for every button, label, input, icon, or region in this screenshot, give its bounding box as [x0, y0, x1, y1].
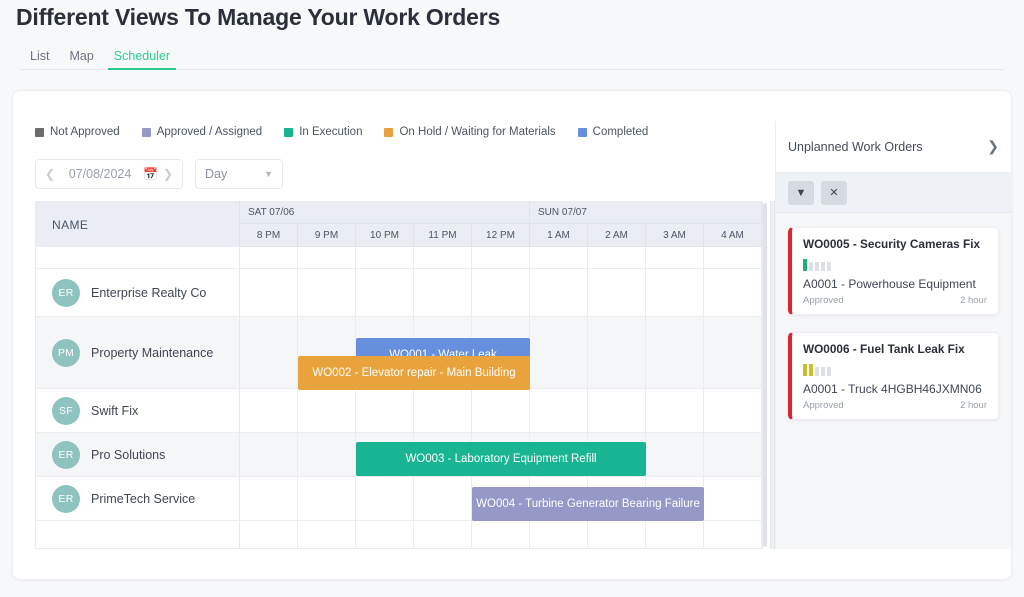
priority-bar — [815, 367, 819, 376]
time-slot-cell[interactable] — [298, 247, 356, 268]
scheduler-grid: NAME SAT 07/06SUN 07/07 8 PM9 PM10 PM11 … — [35, 201, 763, 549]
resource-name-cell[interactable] — [36, 247, 240, 268]
time-slot-cell[interactable] — [646, 433, 704, 476]
row-time-cells — [240, 389, 762, 432]
time-slot-cell[interactable] — [530, 521, 588, 548]
time-slot-cell[interactable] — [646, 247, 704, 268]
grid-body: EREnterprise Realty CoPMProperty Mainten… — [36, 247, 762, 549]
unplanned-panel: Unplanned Work Orders ❯ ▼ ✕ WO0005 - Sec… — [775, 121, 1011, 549]
legend-label: In Execution — [299, 126, 362, 138]
time-slot-cell[interactable] — [356, 477, 414, 520]
legend-swatch — [35, 128, 44, 137]
hour-header-cell: 10 PM — [356, 224, 414, 247]
time-slot-cell[interactable] — [588, 317, 646, 388]
grid-scrollbar[interactable] — [763, 203, 767, 547]
time-slot-cell[interactable] — [588, 247, 646, 268]
time-slot-cell[interactable] — [298, 521, 356, 548]
time-slot-cell[interactable] — [414, 269, 472, 316]
legend-item: In Execution — [284, 126, 362, 138]
priority-bar — [803, 259, 807, 271]
time-slot-cell[interactable] — [298, 477, 356, 520]
tab-list[interactable]: List — [20, 50, 59, 70]
row-time-cells — [240, 521, 762, 548]
priority-bar — [803, 364, 807, 376]
time-slot-cell[interactable] — [704, 477, 762, 520]
unplanned-work-order-card[interactable]: WO0006 - Fuel Tank Leak FixA0001 - Truck… — [788, 332, 999, 420]
time-slot-cell[interactable] — [588, 269, 646, 316]
resource-name-cell[interactable] — [36, 521, 240, 548]
legend-swatch — [142, 128, 151, 137]
scheduler-card: Not ApprovedApproved / AssignedIn Execut… — [12, 90, 1012, 580]
time-slot-cell[interactable] — [704, 521, 762, 548]
avatar: ER — [52, 485, 80, 513]
time-header: SAT 07/06SUN 07/07 8 PM9 PM10 PM11 PM12 … — [240, 201, 762, 247]
resource-row: SFSwift Fix — [36, 389, 762, 433]
page-title: Different Views To Manage Your Work Orde… — [16, 4, 500, 31]
avatar: PM — [52, 339, 80, 367]
day-header-cell: SAT 07/06 — [240, 201, 530, 224]
caret-down-icon: ▼ — [264, 169, 273, 179]
time-slot-cell[interactable] — [472, 269, 530, 316]
resource-name-label: Enterprise Realty Co — [91, 286, 206, 300]
priority-indicator — [803, 364, 987, 376]
time-slot-cell[interactable] — [588, 389, 646, 432]
resource-name-label: Swift Fix — [91, 404, 138, 418]
time-slot-cell[interactable] — [240, 317, 298, 388]
resource-name-label: PrimeTech Service — [91, 492, 195, 506]
time-slot-cell[interactable] — [530, 269, 588, 316]
time-slot-cell[interactable] — [530, 247, 588, 268]
work-order-asset: A0001 - Powerhouse Equipment — [803, 277, 987, 291]
time-slot-cell[interactable] — [356, 269, 414, 316]
unplanned-work-order-card[interactable]: WO0005 - Security Cameras FixA0001 - Pow… — [788, 227, 999, 315]
calendar-icon[interactable]: 📅 — [143, 167, 158, 181]
duration-label: 2 hour — [960, 295, 987, 306]
time-slot-cell[interactable] — [414, 389, 472, 432]
time-slot-cell[interactable] — [472, 389, 530, 432]
chevron-right-icon[interactable]: ❯ — [987, 138, 999, 155]
legend-item: Not Approved — [35, 126, 120, 138]
unplanned-card-list: WO0005 - Security Cameras FixA0001 - Pow… — [776, 213, 1011, 420]
time-slot-cell[interactable] — [240, 477, 298, 520]
work-order-meta: Approved2 hour — [803, 400, 987, 411]
work-order-event[interactable]: WO003 - Laboratory Equipment Refill — [356, 442, 646, 476]
time-slot-cell[interactable] — [646, 317, 704, 388]
resource-row: EREnterprise Realty Co — [36, 269, 762, 317]
resource-name-cell[interactable]: ERPro Solutions — [36, 433, 240, 476]
legend-swatch — [578, 128, 587, 137]
resource-row — [36, 521, 762, 549]
chevron-left-icon[interactable]: ❮ — [43, 167, 57, 181]
status-legend: Not ApprovedApproved / AssignedIn Execut… — [35, 126, 648, 138]
hour-header-cell: 11 PM — [414, 224, 472, 247]
row-time-cells — [240, 247, 762, 268]
row-time-cells — [240, 269, 762, 316]
resource-name-cell[interactable]: PMProperty Maintenance — [36, 317, 240, 388]
resource-name-cell[interactable]: ERPrimeTech Service — [36, 477, 240, 520]
status-badge: Approved — [803, 295, 844, 306]
resource-name-label: Property Maintenance — [91, 346, 213, 360]
hour-header-cell: 1 AM — [530, 224, 588, 247]
work-order-title: WO0005 - Security Cameras Fix — [803, 237, 987, 251]
work-order-title: WO0006 - Fuel Tank Leak Fix — [803, 342, 987, 356]
time-slot-cell[interactable] — [298, 269, 356, 316]
date-picker[interactable]: ❮ 07/08/2024 📅 ❯ — [35, 159, 183, 189]
time-slot-cell[interactable] — [356, 389, 414, 432]
legend-label: Completed — [593, 126, 649, 138]
time-slot-cell[interactable] — [298, 389, 356, 432]
view-mode-select[interactable]: Day ▼ — [195, 159, 283, 189]
work-order-event[interactable]: WO002 - Elevator repair - Main Building — [298, 356, 530, 390]
time-slot-cell[interactable] — [472, 521, 530, 548]
panel-toolbar: ▼ ✕ — [776, 173, 1011, 213]
time-slot-cell[interactable] — [704, 433, 762, 476]
legend-label: On Hold / Waiting for Materials — [399, 126, 555, 138]
priority-bar — [827, 367, 831, 376]
view-tabs: ListMapScheduler — [20, 44, 1004, 70]
legend-label: Not Approved — [50, 126, 120, 138]
grid-header: NAME SAT 07/06SUN 07/07 8 PM9 PM10 PM11 … — [36, 201, 762, 247]
time-slot-cell[interactable] — [530, 317, 588, 388]
time-slot-cell[interactable] — [646, 521, 704, 548]
day-header-cell: SUN 07/07 — [530, 201, 762, 224]
legend-swatch — [284, 128, 293, 137]
priority-bar — [821, 367, 825, 376]
time-slot-cell[interactable] — [472, 247, 530, 268]
time-slot-cell[interactable] — [646, 389, 704, 432]
hour-header-cell: 9 PM — [298, 224, 356, 247]
avatar: ER — [52, 441, 80, 469]
time-slot-cell[interactable] — [588, 521, 646, 548]
legend-item: Approved / Assigned — [142, 126, 263, 138]
day-header-row: SAT 07/06SUN 07/07 — [240, 201, 762, 224]
panel-header: Unplanned Work Orders ❯ — [776, 121, 1011, 173]
filter-icon[interactable]: ▼ — [788, 181, 814, 205]
hour-header-cell: 4 AM — [704, 224, 762, 247]
time-slot-cell[interactable] — [704, 389, 762, 432]
time-slot-cell[interactable] — [704, 269, 762, 316]
time-slot-cell[interactable] — [704, 247, 762, 268]
hour-header-cell: 8 PM — [240, 224, 298, 247]
priority-bar — [815, 262, 819, 271]
time-slot-cell[interactable] — [240, 433, 298, 476]
hour-header-row: 8 PM9 PM10 PM11 PM12 PM1 AM2 AM3 AM4 AM — [240, 224, 762, 247]
priority-bar — [821, 262, 825, 271]
time-slot-cell[interactable] — [414, 477, 472, 520]
time-slot-cell[interactable] — [356, 247, 414, 268]
time-slot-cell[interactable] — [646, 269, 704, 316]
legend-item: Completed — [578, 126, 649, 138]
tab-map[interactable]: Map — [59, 50, 103, 70]
work-order-asset: A0001 - Truck 4HGBH46JXMN06 — [803, 382, 987, 396]
resource-name-cell[interactable]: EREnterprise Realty Co — [36, 269, 240, 316]
avatar: SF — [52, 397, 80, 425]
legend-swatch — [384, 128, 393, 137]
time-slot-cell[interactable] — [530, 389, 588, 432]
time-slot-cell[interactable] — [240, 247, 298, 268]
legend-item: On Hold / Waiting for Materials — [384, 126, 555, 138]
work-order-event[interactable]: WO004 - Turbine Generator Bearing Failur… — [472, 487, 704, 521]
legend-label: Approved / Assigned — [157, 126, 263, 138]
avatar: ER — [52, 279, 80, 307]
duration-label: 2 hour — [960, 400, 987, 411]
hour-header-cell: 3 AM — [646, 224, 704, 247]
resource-name-cell[interactable]: SFSwift Fix — [36, 389, 240, 432]
close-icon[interactable]: ✕ — [821, 181, 847, 205]
time-slot-cell[interactable] — [240, 269, 298, 316]
time-slot-cell[interactable] — [240, 521, 298, 548]
time-slot-cell[interactable] — [414, 247, 472, 268]
resource-row — [36, 247, 762, 269]
hour-header-cell: 2 AM — [588, 224, 646, 247]
date-value[interactable]: 07/08/2024 — [57, 167, 143, 181]
priority-bar — [809, 262, 813, 271]
time-slot-cell[interactable] — [704, 317, 762, 388]
time-slot-cell[interactable] — [298, 433, 356, 476]
status-badge: Approved — [803, 400, 844, 411]
panel-title: Unplanned Work Orders — [788, 140, 923, 154]
resource-name-label: Pro Solutions — [91, 448, 165, 462]
priority-indicator — [803, 259, 987, 271]
priority-bar — [809, 364, 813, 376]
scheduler-toolbar: ❮ 07/08/2024 📅 ❯ Day ▼ — [35, 159, 283, 189]
tab-scheduler[interactable]: Scheduler — [104, 50, 180, 70]
time-slot-cell[interactable] — [414, 521, 472, 548]
view-mode-value: Day — [205, 167, 227, 181]
priority-bar — [827, 262, 831, 271]
chevron-right-icon[interactable]: ❯ — [161, 167, 175, 181]
time-slot-cell[interactable] — [356, 521, 414, 548]
time-slot-cell[interactable] — [240, 389, 298, 432]
name-column-header: NAME — [36, 201, 240, 247]
hour-header-cell: 12 PM — [472, 224, 530, 247]
work-order-meta: Approved2 hour — [803, 295, 987, 306]
